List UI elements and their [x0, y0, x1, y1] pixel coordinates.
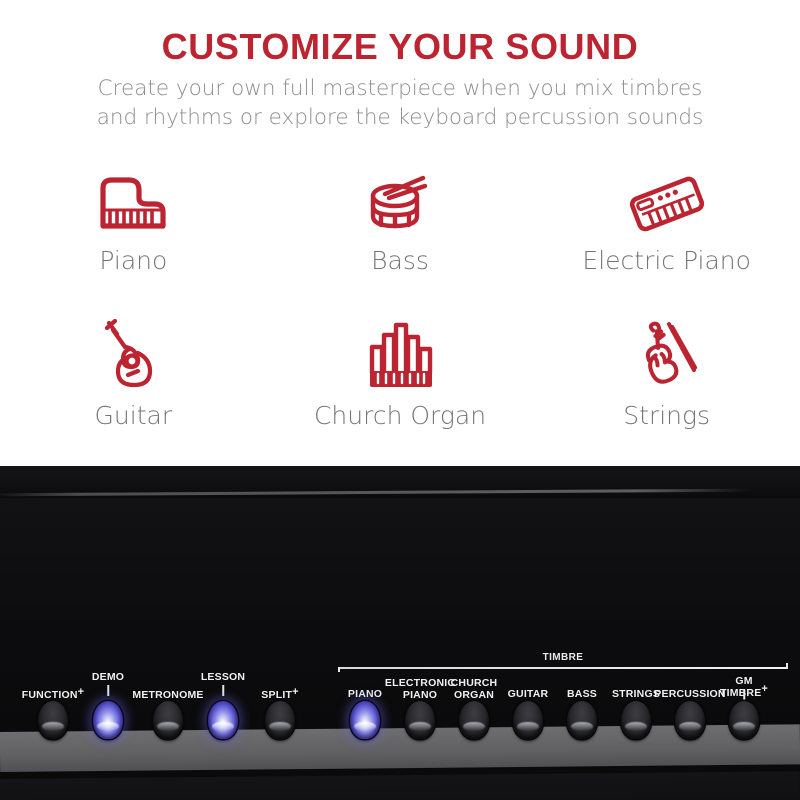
sound-item-guitar: Guitar [0, 315, 267, 430]
control-tick-lesson [222, 685, 224, 696]
timbre-bracket-tick-right [786, 663, 788, 669]
control-tick-demo [107, 685, 109, 696]
sound-icon-grid: Piano Ba [0, 160, 800, 430]
sound-grid-row-1: Piano Ba [0, 160, 800, 275]
screenshot-root: CUSTOMIZE YOUR SOUND Create your own ful… [0, 0, 800, 800]
timbre-label-piano: PIANO [348, 689, 382, 701]
control-button-demo[interactable] [93, 701, 123, 739]
timbre-label-strings: STRINGS [612, 689, 660, 701]
promo-panel: CUSTOMIZE YOUR SOUND Create your own ful… [0, 0, 800, 466]
timbre-button-bass[interactable] [567, 701, 597, 739]
page-title: CUSTOMIZE YOUR SOUND [0, 26, 800, 68]
grand-piano-icon [95, 160, 171, 236]
timbre-button-piano[interactable] [350, 701, 380, 739]
keyboard-lid-seam [0, 489, 750, 497]
timbre-label-electronic-piano: ELECTRONICPIANO [385, 678, 455, 701]
sound-item-electric-piano: Electric Piano [533, 160, 800, 275]
timbre-button-electronic-piano[interactable] [405, 701, 435, 739]
control-label-demo: DEMO [92, 672, 124, 684]
keyboard-lid [0, 466, 800, 498]
control-label-function: FUNCTION+ [22, 690, 84, 702]
control-button-lesson[interactable] [208, 701, 238, 739]
promo-subtitle-line-1: Create your own full masterpiece when yo… [40, 74, 760, 103]
timbre-button-church-organ[interactable] [459, 701, 489, 739]
sound-item-label: Electric Piano [582, 246, 751, 275]
control-button-function[interactable] [38, 701, 68, 739]
timbre-tick-gm-timbre [743, 689, 745, 700]
drum-with-sticks-icon [365, 160, 435, 236]
keyboard-control-panel: TIMBRE FUNCTION+DEMOMETRONOMELESSONSPLIT… [0, 466, 800, 800]
timbre-button-gm-timbre[interactable] [729, 701, 759, 739]
sound-grid-row-2: Guitar [0, 315, 800, 430]
control-label-split: SPLIT+ [261, 690, 298, 702]
sound-item-label: Piano [99, 246, 167, 275]
sound-item-church-organ: Church Organ [267, 315, 534, 430]
timbre-button-guitar[interactable] [513, 701, 543, 739]
timbre-bracket-tick-left [338, 667, 340, 672]
control-button-split[interactable] [265, 701, 295, 739]
violin-with-bow-icon [630, 315, 704, 391]
sound-item-label: Church Organ [314, 401, 486, 430]
sound-item-piano: Piano [0, 160, 267, 275]
sound-item-strings: Strings [533, 315, 800, 430]
sound-item-bass: Bass [267, 160, 534, 275]
timbre-bracket-line [338, 667, 788, 669]
timbre-group-label: TIMBRE [338, 652, 788, 663]
timbre-button-percussion[interactable] [675, 701, 705, 739]
sound-item-label: Guitar [95, 401, 173, 430]
timbre-label-bass: BASS [567, 689, 597, 701]
timbre-label-church-organ: CHURCHORGAN [451, 678, 498, 701]
timbre-button-strings[interactable] [621, 701, 651, 739]
electronic-keyboard-icon [624, 160, 710, 236]
sound-item-label: Strings [623, 401, 710, 430]
timbre-label-guitar: GUITAR [508, 689, 549, 701]
timbre-label-percussion: PERCUSSION [654, 689, 725, 701]
control-label-metronome: METRONOME [132, 690, 203, 702]
keyboard-faceplate: TIMBRE FUNCTION+DEMOMETRONOMELESSONSPLIT… [0, 498, 800, 800]
control-button-metronome[interactable] [153, 701, 183, 739]
organ-pipes-icon [364, 315, 436, 391]
promo-subtitle-line-2: and rhythms or explore the keyboard perc… [40, 103, 760, 132]
sound-item-label: Bass [371, 246, 429, 275]
acoustic-guitar-icon [100, 315, 166, 391]
control-label-lesson: LESSON [201, 672, 245, 684]
promo-subtitle: Create your own full masterpiece when yo… [40, 74, 760, 132]
